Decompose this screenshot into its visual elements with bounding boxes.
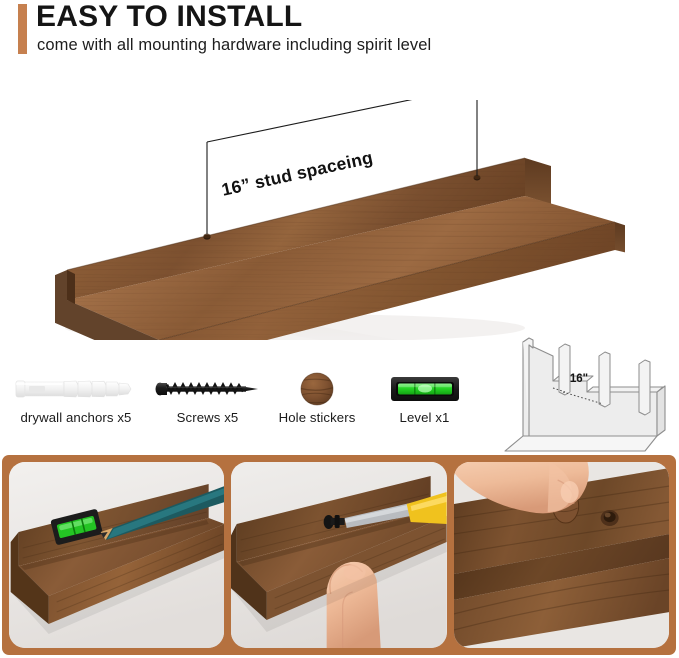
hardware-item-level: Level x1 (372, 368, 477, 425)
hardware-label-hole-stickers: Hole stickers (262, 410, 372, 425)
hole-sticker-icon (262, 368, 372, 410)
header: EASY TO INSTALL come with all mounting h… (0, 0, 679, 70)
install-step-photo-1[interactable] (9, 462, 224, 648)
hero-product-section: 16” stud spaceing (0, 70, 679, 360)
install-step-photo-3[interactable] (454, 462, 669, 648)
hardware-label-drywall-anchors: drywall anchors x5 (6, 410, 146, 425)
accent-bar (18, 4, 27, 54)
installation-photo-strip (2, 455, 676, 655)
drywall-anchor-icon (6, 368, 146, 410)
spirit-level-icon (372, 368, 477, 410)
hardware-item-hole-stickers: Hole stickers (262, 368, 372, 425)
page-title: EASY TO INSTALL (36, 0, 302, 34)
hardware-item-screws: Screws x5 (150, 368, 265, 425)
shelf-illustration (55, 100, 625, 340)
photo-screw-hole (600, 510, 618, 526)
hardware-item-drywall-anchors: drywall anchors x5 (6, 368, 146, 425)
screw-icon (150, 368, 265, 410)
install-step-photo-2[interactable] (231, 462, 446, 648)
page-subtitle: come with all mounting hardware includin… (37, 34, 431, 56)
hardware-list: drywall anchors x5 (0, 360, 679, 445)
shelf-product-image (55, 100, 625, 340)
hardware-label-screws: Screws x5 (150, 410, 265, 425)
hardware-label-level: Level x1 (372, 410, 477, 425)
